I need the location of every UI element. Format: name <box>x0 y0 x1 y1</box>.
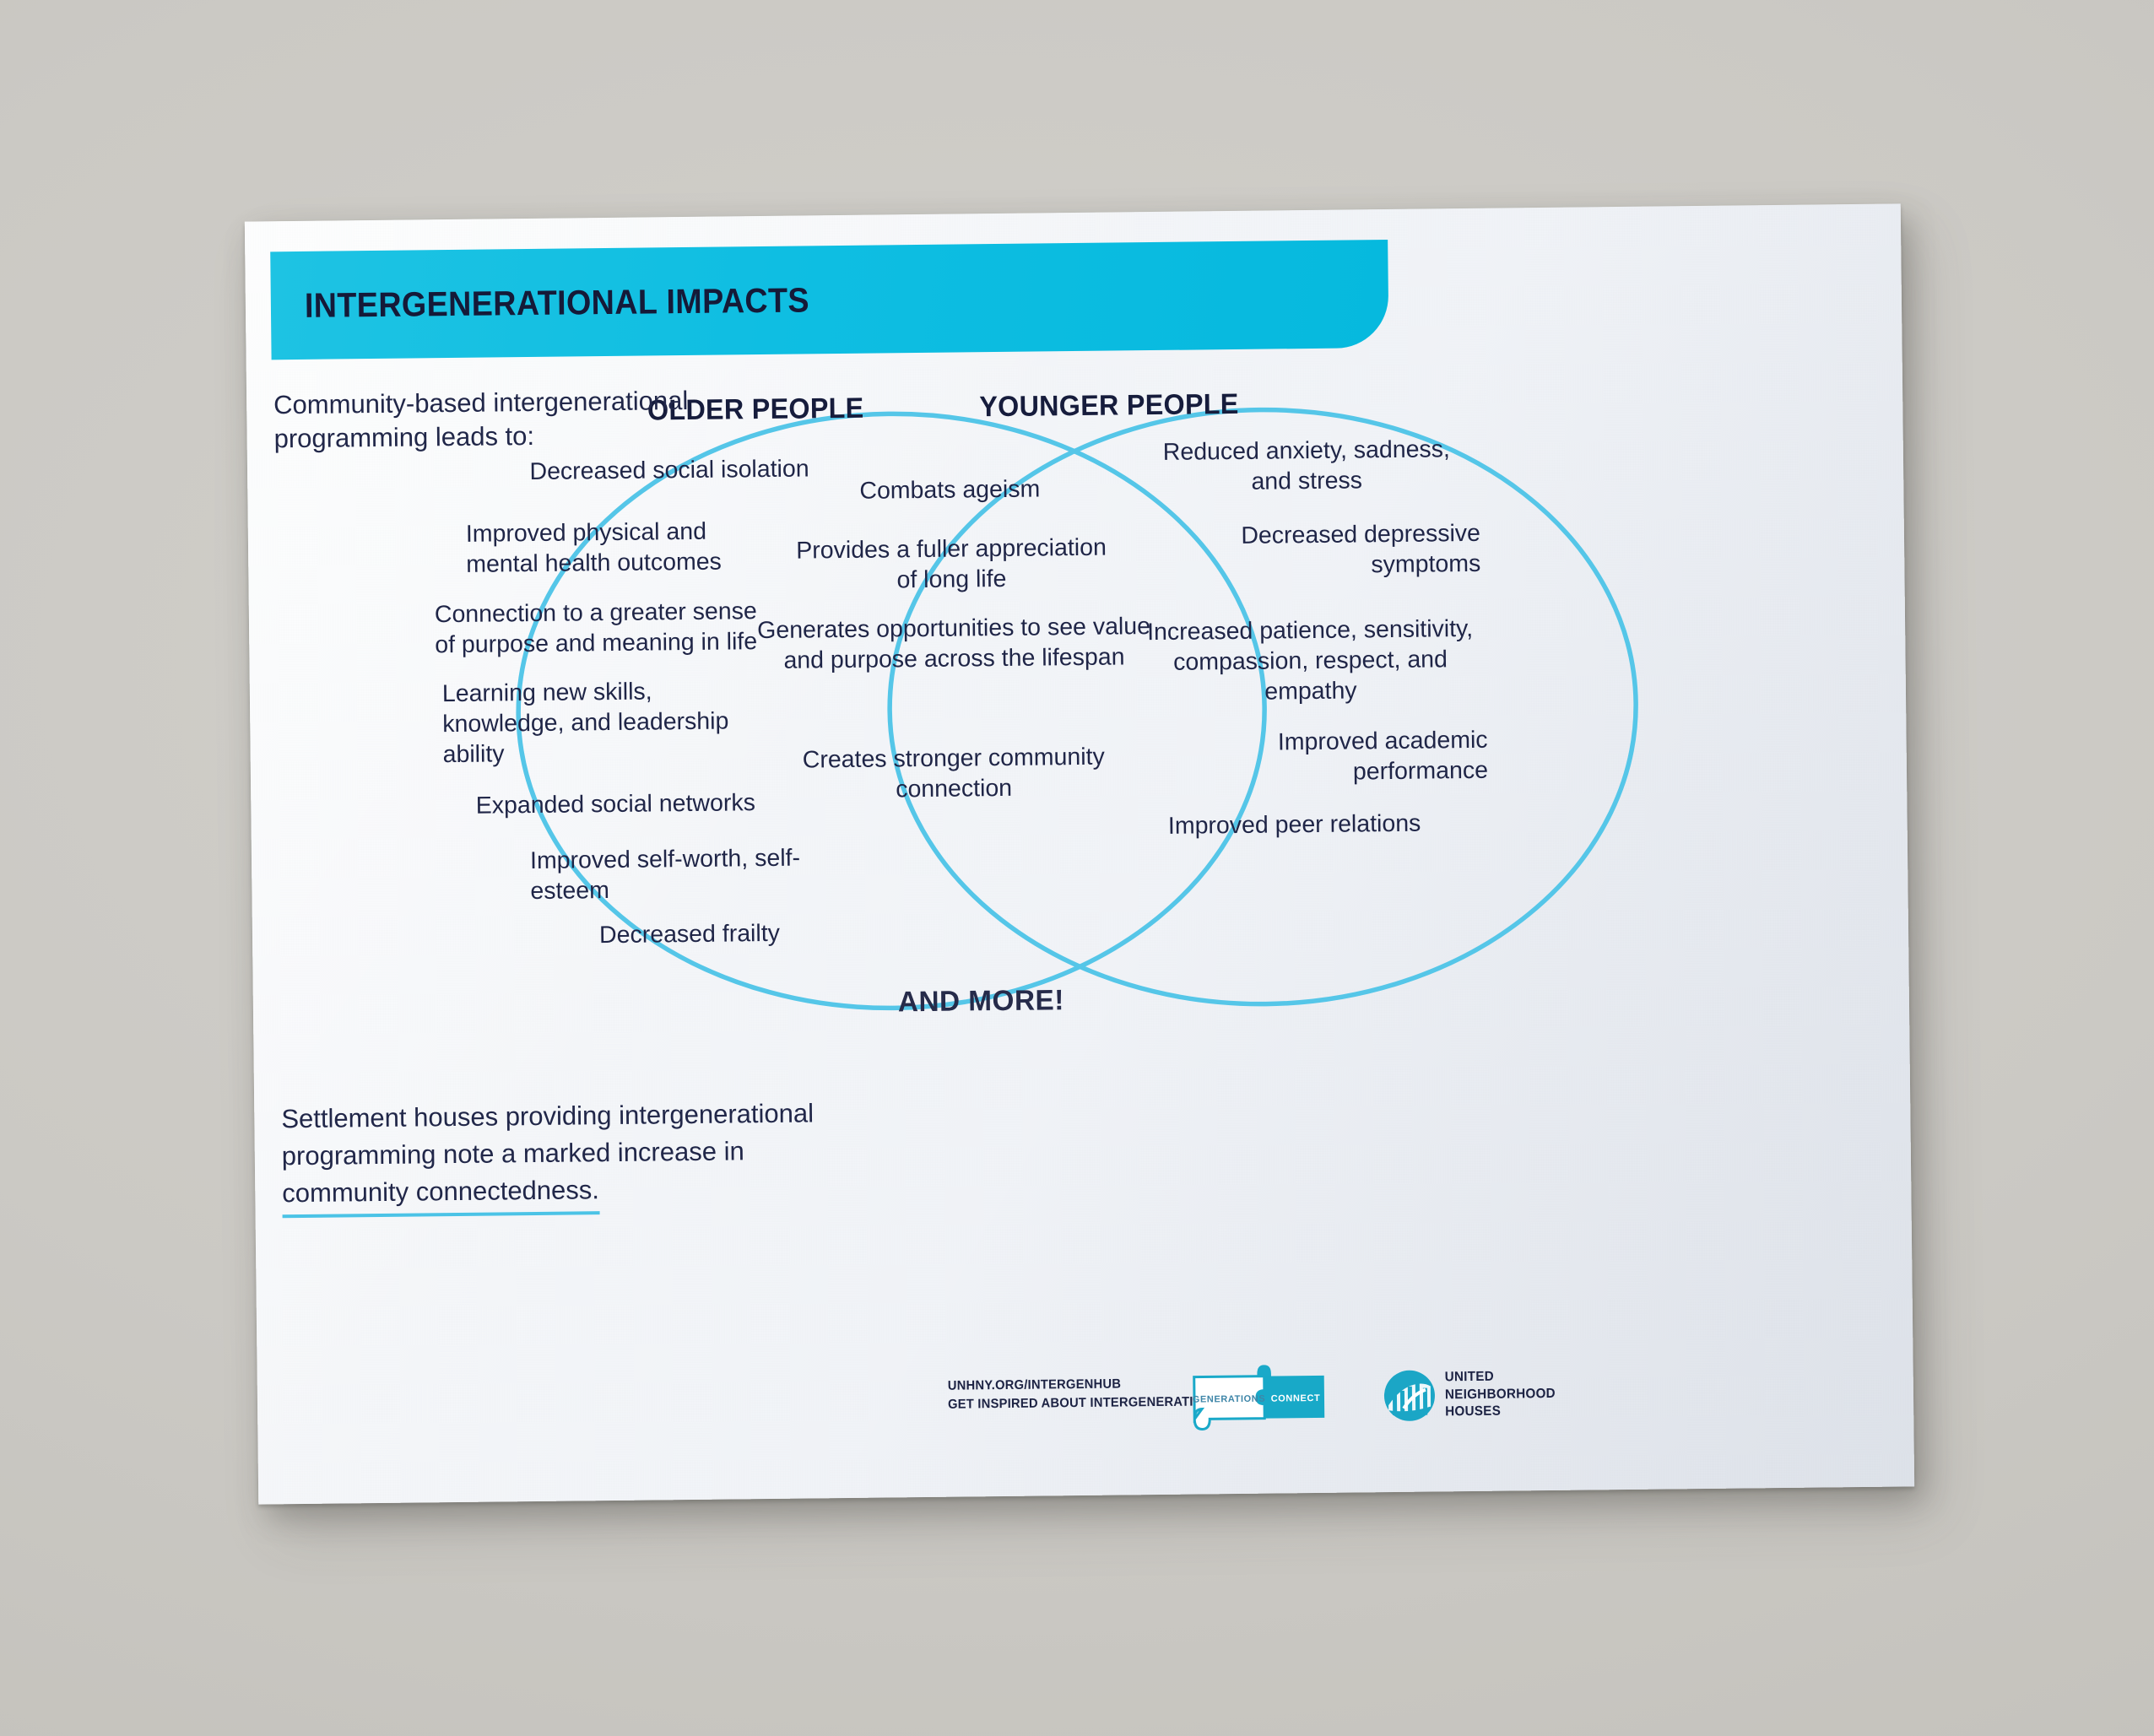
venn-item-older-4: Expanded social networks <box>463 788 767 822</box>
closing-line-3: community connectedness. <box>282 1171 599 1218</box>
venn-item-shared-1: Provides a fuller appreciation of long l… <box>787 533 1117 598</box>
venn-item-older-0: Decreased social isolation <box>509 454 830 488</box>
and-more-label: AND MORE! <box>898 984 1064 1019</box>
intro-text: Community-based intergenerational progra… <box>273 382 815 457</box>
venn-diagram: OLDER PEOPLE YOUNGER PEOPLE Decreased so… <box>246 362 1912 1224</box>
intro-line-1: Community-based intergenerational <box>273 382 814 422</box>
intro-line-2: programming leads to: <box>273 417 814 457</box>
venn-item-younger-0: Reduced anxiety, sadness, and stress <box>1159 435 1455 499</box>
united-neighborhood-houses-logo: UNITED NEIGHBORHOOD HOUSES <box>1383 1360 1561 1430</box>
poster-sheet: INTERGENERATIONAL IMPACTS Community-base… <box>245 203 1914 1504</box>
header-band: INTERGENERATIONAL IMPACTS <box>270 240 1388 360</box>
venn-item-younger-4: Improved peer relations <box>1134 809 1454 842</box>
page-title: INTERGENERATIONAL IMPACTS <box>305 280 810 325</box>
venn-item-older-6: Decreased frailty <box>555 918 825 951</box>
connect-word: CONNECT <box>1271 1393 1321 1404</box>
venn-item-shared-3: Creates stronger community connection <box>789 742 1119 806</box>
generations-word: GENERATIONS <box>1193 1394 1266 1405</box>
venn-item-older-1: Improved physical and mental health outc… <box>466 516 745 580</box>
unh-line-3: HOUSES <box>1445 1403 1556 1421</box>
venn-heading-younger: YOUNGER PEOPLE <box>979 388 1239 424</box>
puzzle-icon: GENERATIONS CONNECT <box>1189 1363 1340 1434</box>
generations-connect-logo: GENERATIONS CONNECT <box>1189 1363 1340 1434</box>
venn-item-shared-2: Generates opportunities to see value and… <box>755 612 1153 677</box>
venn-item-older-3: Learning new skills, knowledge, and lead… <box>442 676 764 771</box>
venn-item-younger-1: Decreased depressive symptoms <box>1151 519 1481 583</box>
footer: UNHNY.ORG/INTERGENHUB GET INSPIRED ABOUT… <box>257 1349 1914 1477</box>
unh-line-1: UNITED <box>1445 1368 1556 1387</box>
closing-line-2: programming note a marked increase in <box>282 1132 839 1175</box>
venn-item-younger-3: Improved academic performance <box>1158 726 1488 790</box>
venn-item-older-2: Connection to a greater sense of purpose… <box>435 597 773 661</box>
venn-item-younger-2: Increased patience, sensitivity, compass… <box>1128 614 1492 709</box>
closing-line-1: Settlement houses providing intergenerat… <box>281 1095 838 1138</box>
closing-statement: Settlement houses providing intergenerat… <box>281 1095 839 1218</box>
venn-item-older-5: Improved self-worth, self-esteem <box>530 844 801 907</box>
venn-item-shared-0: Combats ageism <box>823 474 1076 507</box>
unh-line-2: NEIGHBORHOOD <box>1445 1386 1556 1404</box>
unh-wordmark: UNITED NEIGHBORHOOD HOUSES <box>1445 1368 1556 1422</box>
unh-mark-icon <box>1383 1369 1437 1422</box>
